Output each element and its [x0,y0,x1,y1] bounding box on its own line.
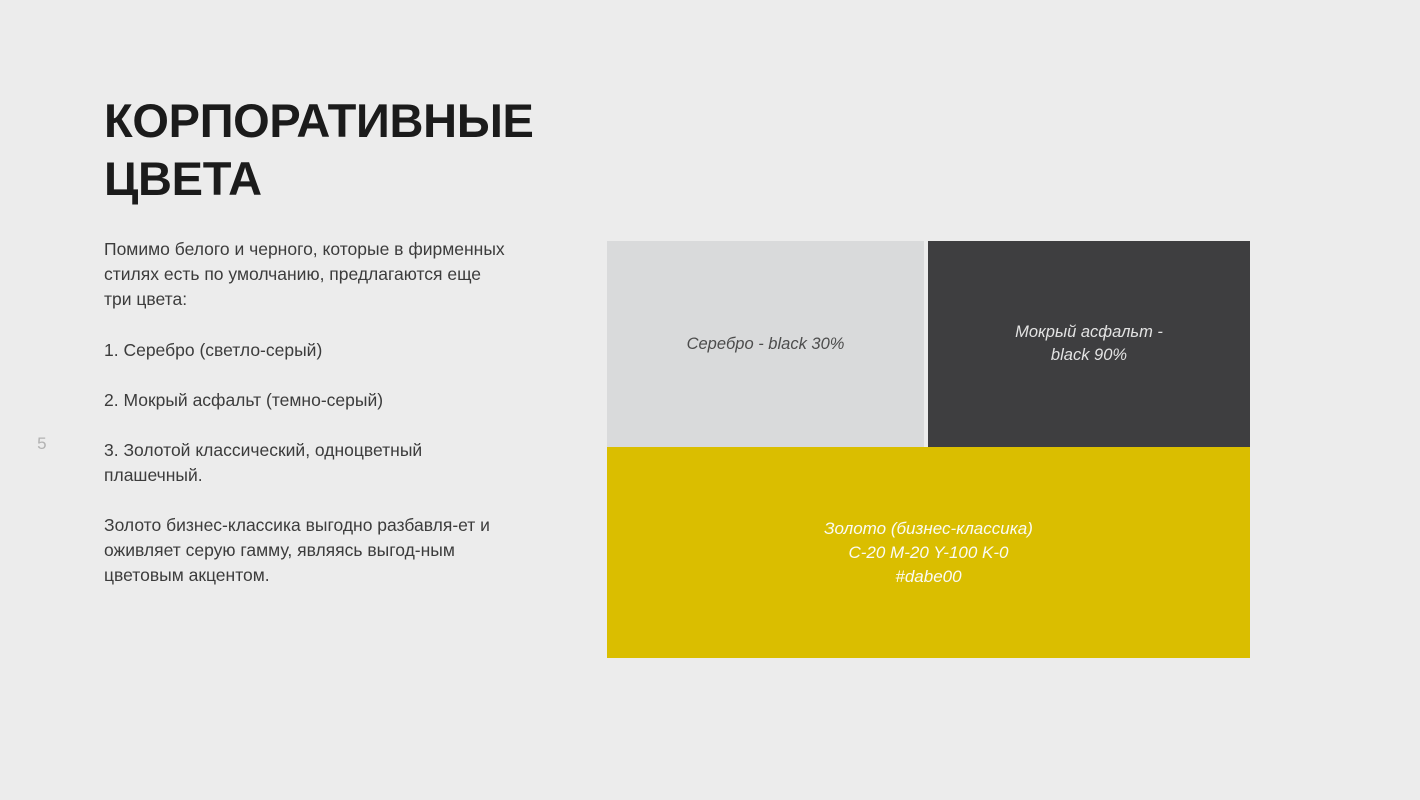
paragraph-outro: Золото бизнес-классика выгодно разбавля-… [104,513,508,588]
body-copy: Помимо белого и черного, которые в фирме… [104,237,508,588]
color-swatch-gold: Золото (бизнес-классика) C-20 M-20 Y-100… [607,447,1250,658]
color-swatch-wet-asphalt: Мокрый асфальт - black 90% [928,241,1250,447]
paragraph-item-3: 3. Золотой классический, одноцветный пла… [104,438,508,488]
page-number: 5 [30,434,54,454]
page-title-line-2: ЦВЕТА [104,150,644,208]
color-swatch-group: Серебро - black 30% Мокрый асфальт - bla… [607,241,1250,658]
color-swatch-wet-asphalt-label: Мокрый асфальт - black 90% [1015,321,1163,367]
paragraph-item-2: 2. Мокрый асфальт (темно-серый) [104,388,508,413]
page-title-line-1: КОРПОРАТИВНЫЕ [104,92,644,150]
page-title: КОРПОРАТИВНЫЕ ЦВЕТА [104,92,644,208]
color-swatch-silver-label: Серебро - black 30% [687,333,845,355]
color-swatch-gold-label: Золото (бизнес-классика) C-20 M-20 Y-100… [824,517,1033,589]
slide-canvas: 5 КОРПОРАТИВНЫЕ ЦВЕТА Помимо белого и че… [0,0,1420,800]
paragraph-intro: Помимо белого и черного, которые в фирме… [104,237,508,312]
paragraph-item-1: 1. Серебро (светло-серый) [104,338,508,363]
color-swatch-silver: Серебро - black 30% [607,241,924,447]
